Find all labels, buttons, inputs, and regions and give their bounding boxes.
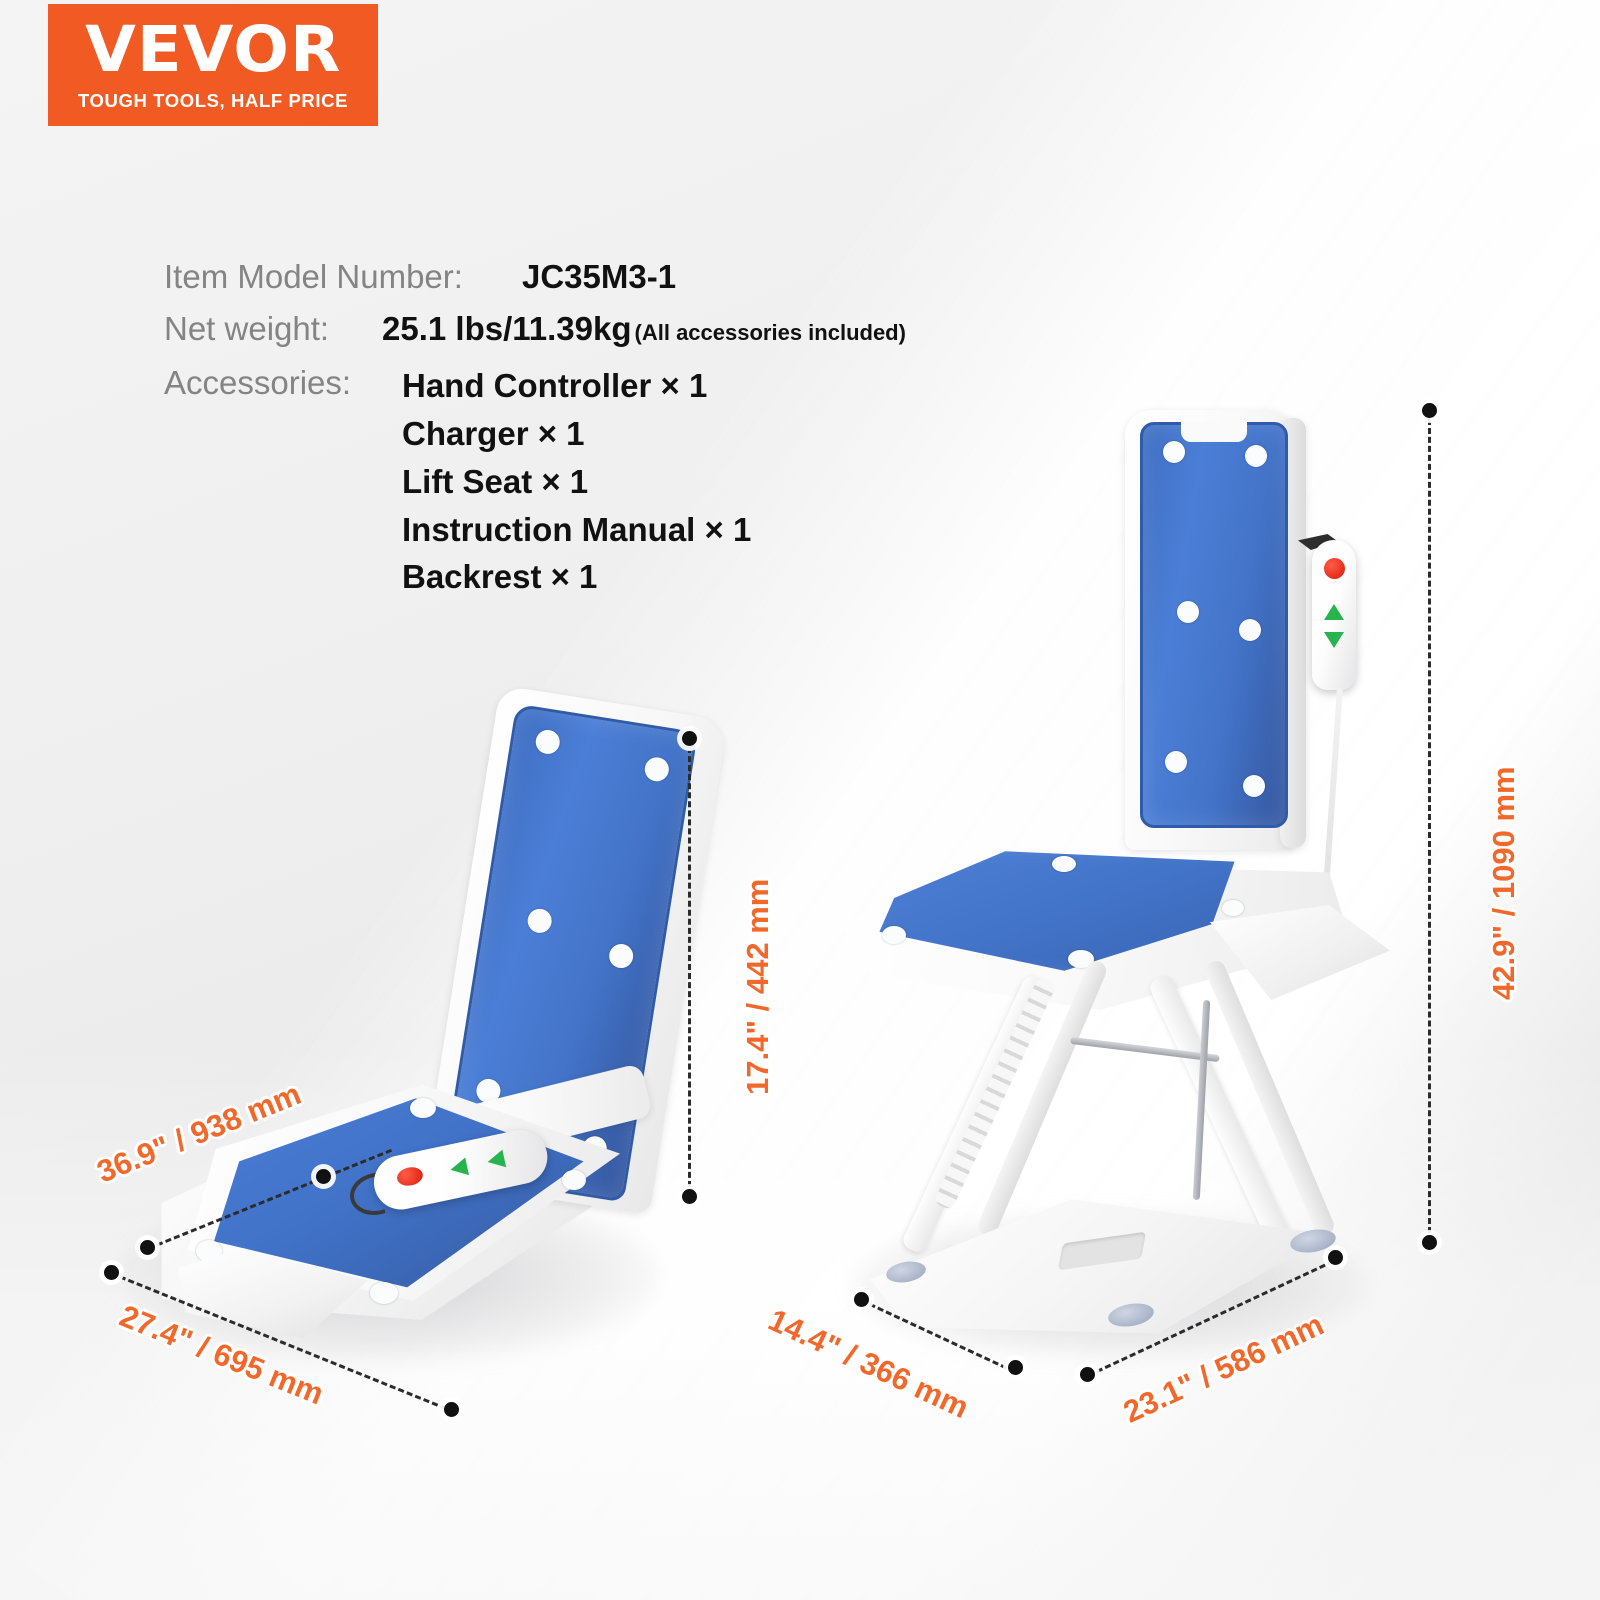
controller-cable <box>1323 688 1343 888</box>
controller-up-button[interactable] <box>449 1158 469 1179</box>
cushion-grommet <box>1245 445 1267 467</box>
dim-dot <box>682 731 697 746</box>
raised-backrest-cushion <box>1140 422 1288 828</box>
seat-grommet <box>410 1098 436 1118</box>
controller-up-button[interactable] <box>1324 604 1344 620</box>
dim-label-raised-height: 42.9" / 1090 mm <box>1486 766 1522 1000</box>
headrest-notch <box>1181 422 1247 442</box>
dim-dot <box>140 1240 155 1255</box>
seat-grommet <box>882 926 906 944</box>
dim-line-folded-height <box>688 738 691 1196</box>
dim-dot <box>682 1189 697 1204</box>
controller-down-button[interactable] <box>1324 632 1344 648</box>
cushion-grommet <box>1165 751 1187 773</box>
cushion-grommet <box>1239 619 1261 641</box>
cushion-grommet <box>526 907 553 934</box>
seat-grommet <box>1222 900 1244 916</box>
dim-dot <box>1328 1250 1343 1265</box>
controller-down-button[interactable] <box>486 1150 506 1171</box>
cushion-grommet <box>1177 601 1199 623</box>
dim-dot <box>104 1265 119 1280</box>
dim-dot <box>1080 1367 1095 1382</box>
cushion-grommet <box>1243 775 1265 797</box>
dim-dot <box>316 1169 331 1184</box>
seat-grommet <box>562 1170 586 1190</box>
product-spec-image: VEVOR TOUGH TOOLS, HALF PRICE Item Model… <box>0 0 1600 1600</box>
dim-dot <box>1008 1360 1023 1375</box>
dim-label-folded-height: 17.4" / 442 mm <box>740 879 776 1095</box>
seat-grommet <box>1052 856 1076 872</box>
product-folded-view <box>0 0 760 1600</box>
hand-controller-hanging <box>1302 520 1362 720</box>
cushion-grommet <box>643 756 670 783</box>
seat-grommet <box>370 1282 398 1304</box>
dim-dot <box>444 1402 459 1417</box>
cushion-grommet <box>534 728 561 755</box>
controller-stop-button[interactable] <box>1324 558 1345 579</box>
raised-seat-flap <box>1210 905 1390 1000</box>
cushion-grommet <box>1163 441 1185 463</box>
dim-line-raised-height <box>1428 410 1431 1242</box>
dim-dot <box>1422 403 1437 418</box>
cushion-grommet <box>607 942 634 969</box>
dim-dot <box>854 1292 869 1307</box>
dim-dot <box>1422 1235 1437 1250</box>
